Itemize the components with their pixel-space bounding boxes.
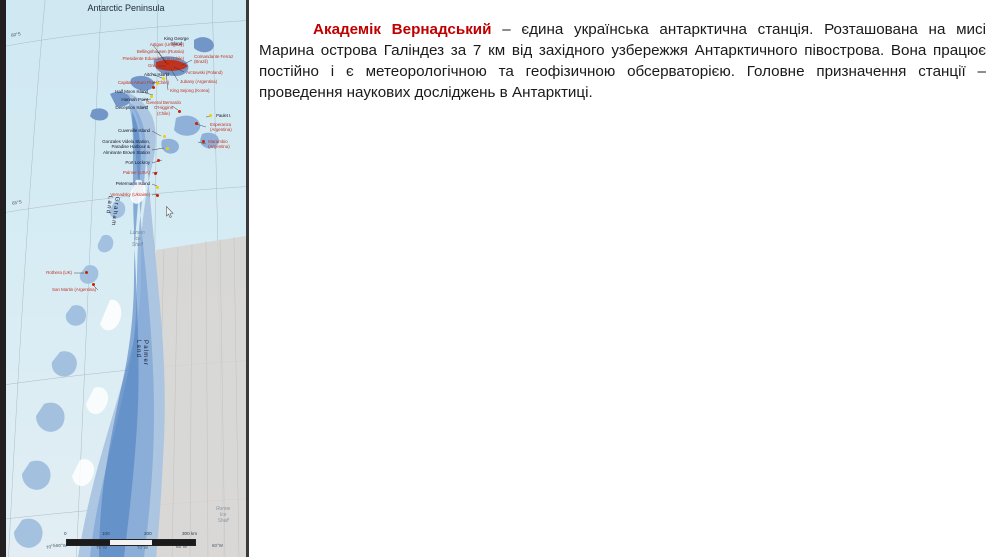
station-dot-san-martin — [92, 283, 95, 286]
station-label-great-wall: Great Wall (China) — [94, 63, 184, 68]
station-label-vernadsky: Vernadsky (Ukraine) — [44, 192, 150, 197]
region-label-ronne-ice-shelf: Ronne Ice Shelf — [216, 507, 230, 524]
longitude-label-60w: 60°W — [212, 543, 223, 548]
station-label-cuverville-island: Cuverville Island — [72, 128, 150, 133]
station-label-arctowski: Arctowski (Poland) — [186, 70, 223, 75]
station-label-petermann-island: Petermann Island — [46, 181, 150, 186]
station-label-jubany: Jubany (Argentina) — [180, 79, 217, 84]
station-label-capitan-arturo-prat: Capitan Arturo Prat (Chile) — [62, 80, 169, 85]
station-label-artigas: Artigas (Uruguay) — [116, 42, 184, 47]
station-label-port-lockroy: Port Lockroy — [66, 160, 150, 165]
region-label-larsen-ice-shelf: Larsen Ice Shelf — [130, 231, 145, 248]
station-name-highlight: Академік Вернадський — [313, 21, 492, 38]
station-dot-aitcho — [162, 77, 165, 80]
station-dot-vernadsky — [156, 194, 159, 197]
station-dot-ohiggins — [178, 110, 181, 113]
station-dot-half-moon — [156, 82, 159, 85]
station-label-gonzales-videla: Gonzales Videla Station, Paradise Harbou… — [42, 139, 150, 155]
region-label-palmer-land: Palmer Land — [134, 340, 148, 366]
station-dot-palmer — [154, 172, 157, 175]
map-scale-bar — [66, 539, 196, 546]
station-label-rothera: Rothera (UK) — [20, 270, 72, 275]
station-dot-paulet — [209, 114, 212, 117]
station-dot-shetland-cluster — [166, 62, 169, 65]
station-dot-cuverville — [163, 135, 166, 138]
station-dot-rothera — [85, 271, 88, 274]
station-dot-esperanza — [195, 122, 198, 125]
station-dot-prat — [152, 86, 155, 89]
station-dot-port-lockroy — [157, 159, 160, 162]
scale-tick-300: 300 km — [182, 531, 197, 536]
station-label-aitcho-island: Aitcho Island — [94, 72, 169, 77]
station-label-general-bernardo-ohiggins: General Bernardo O'Higgins (Chile) — [146, 100, 181, 116]
antarctic-peninsula-map-panel: Antarctic Peninsula 60°S 65°S 70°S 80°W … — [0, 0, 249, 557]
station-dot-hannah — [150, 95, 153, 98]
station-label-presidente-eduardo-frei: Presidente Eduardo Frei (Chile) — [54, 56, 184, 61]
station-dot-petermann — [156, 186, 159, 189]
station-label-half-moon-island: Half Moon Island — [68, 89, 148, 94]
station-label-hannah-point: Hannah Point — [68, 97, 148, 102]
station-label-palmer: Palmer (USA) — [58, 170, 150, 175]
slide-content-area: Академік Вернадський – єдина українська … — [255, 0, 993, 557]
station-label-esperanza: Esperanza (Argentina) — [210, 122, 232, 133]
station-label-marambio: Marambio (Argentina) — [208, 139, 230, 150]
station-dot-marambio — [202, 140, 205, 143]
scale-tick-0: 0 — [64, 531, 67, 536]
station-label-king-sejong: King Sejong (Korea) — [170, 88, 209, 93]
region-label-paulet-island: Paulet I. — [216, 113, 231, 118]
station-label-comandante-ferraz: Comandante Ferraz (Brazil) — [194, 54, 233, 65]
scale-tick-100: 100 — [102, 531, 110, 536]
station-label-deception-island: Deception Island — [54, 105, 148, 110]
station-label-bellingshausen: Bellingshausen (Russia) — [94, 49, 184, 54]
station-dot-paradise — [166, 147, 169, 150]
svg-text:Antarctic Peninsula: Antarctic Peninsula — [87, 3, 164, 13]
slide-paragraph: Академік Вернадський – єдина українська … — [259, 19, 986, 103]
station-label-san-martin: San Martin (Argentina) — [24, 287, 96, 292]
scale-tick-200: 200 — [144, 531, 152, 536]
